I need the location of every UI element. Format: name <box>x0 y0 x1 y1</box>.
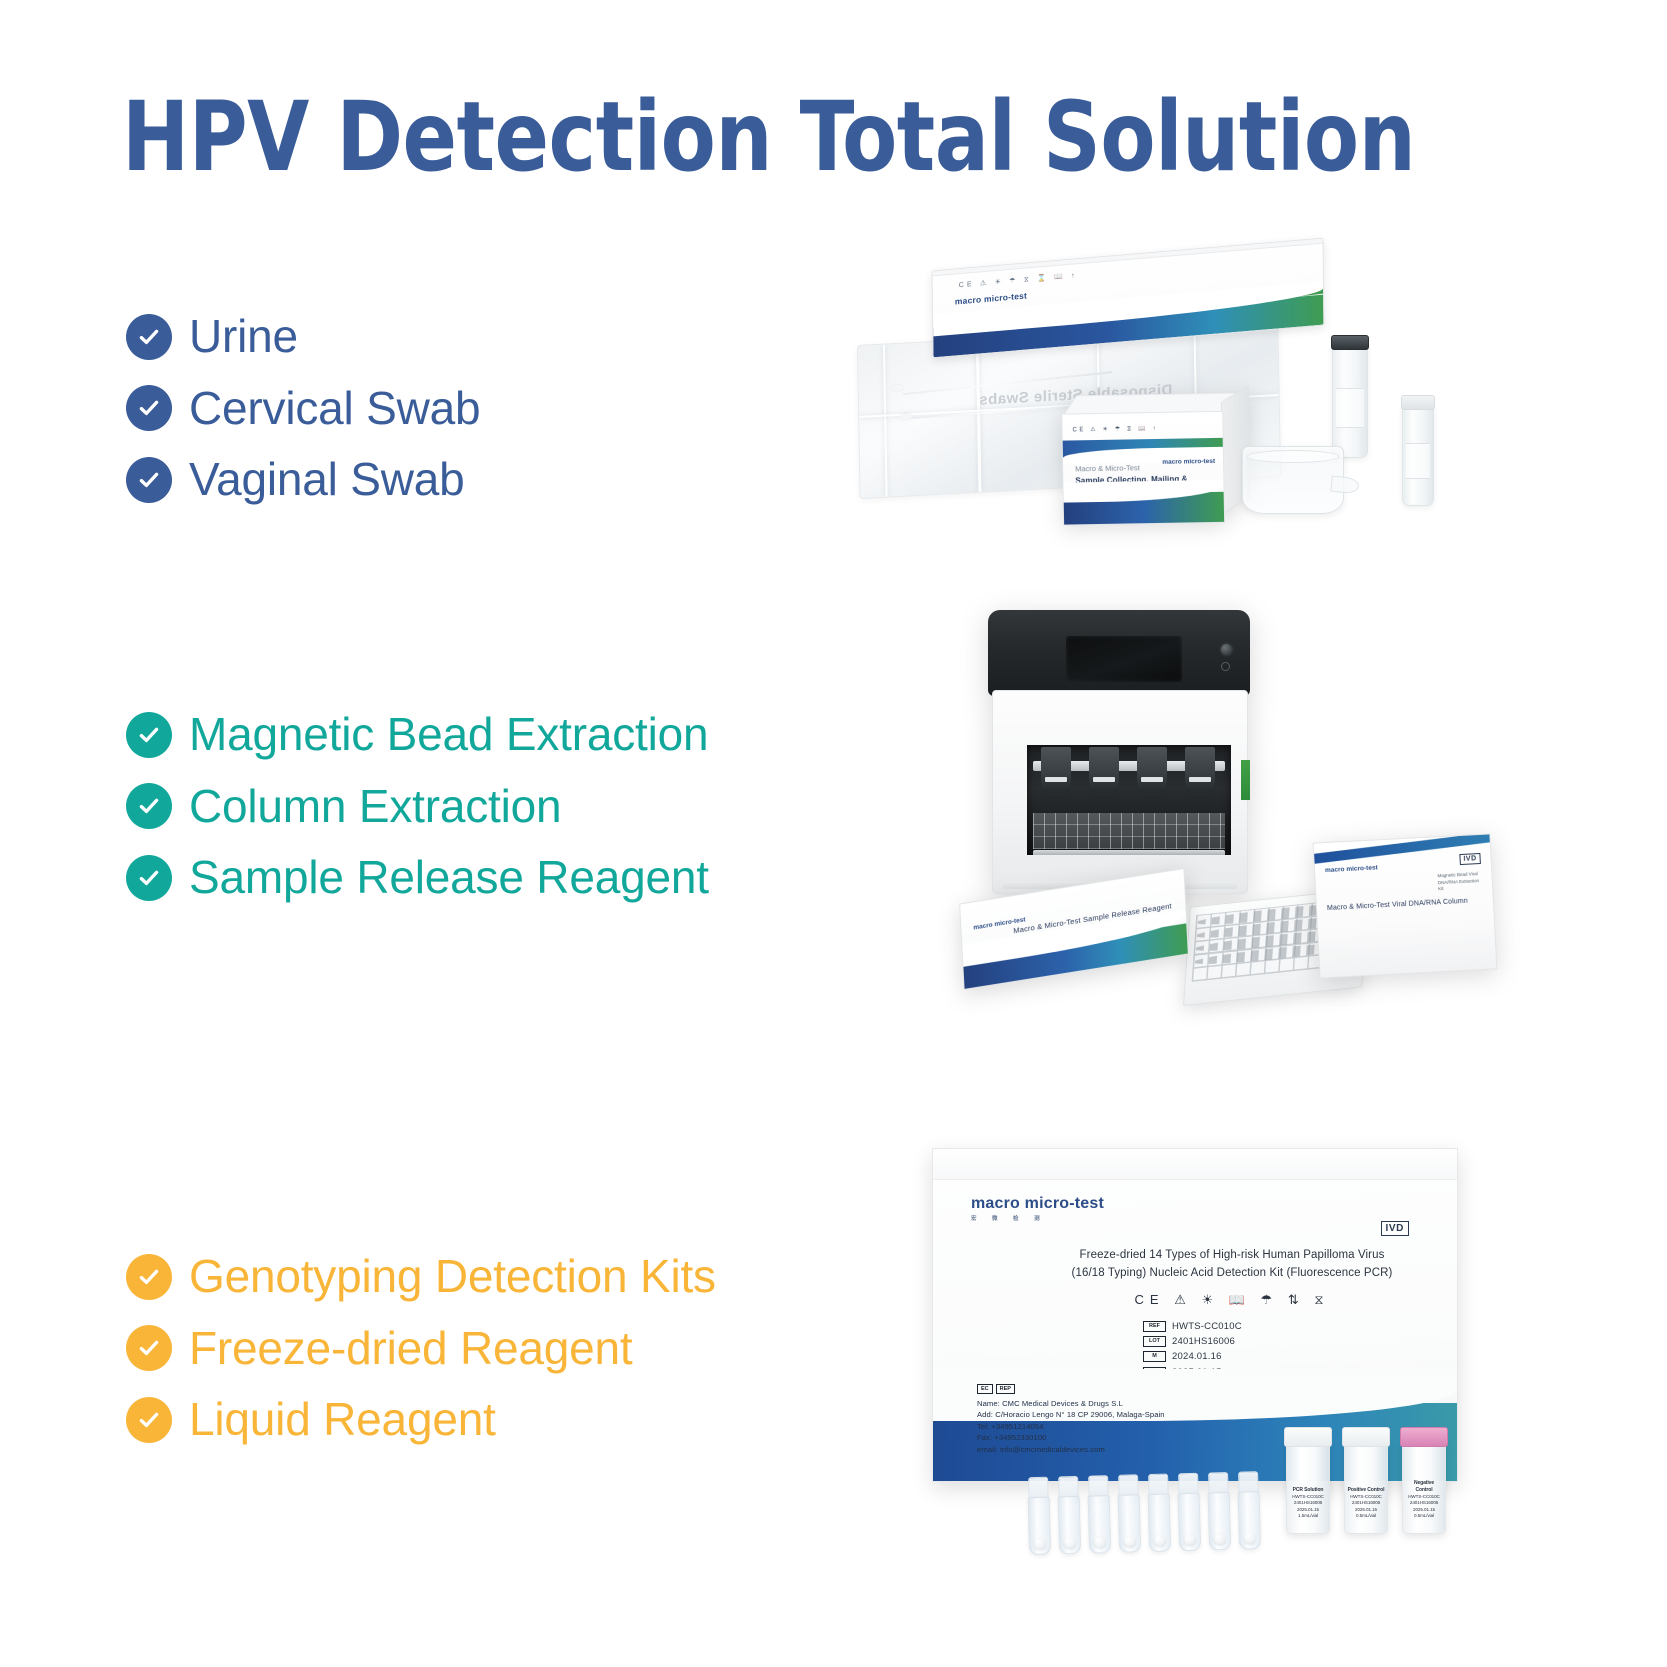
positive-control-vial: Positive Control HWTS-CC010C 2401HS16006… <box>1344 1440 1388 1534</box>
extraction-chamber <box>1027 745 1231 855</box>
feature-label: Freeze-dried Reagent <box>189 1320 632 1378</box>
code-row-manufacture-date: M2024.01.16 <box>1143 1349 1413 1364</box>
package-symbols: CE ⚠ ☀ 📖 ☂ ⇅ ⧖ <box>1051 1292 1413 1308</box>
vial-name: Positive Control <box>1347 1487 1385 1494</box>
ref-tag-icon: REF <box>1143 1321 1166 1332</box>
feature-label: Magnetic Bead Extraction <box>189 706 708 764</box>
feature-item-liquid-reagent: Liquid Reagent <box>126 1391 716 1449</box>
vial-details: HWTS-CC010C 2401HS16006 2025.01.15 0.5mL… <box>1408 1494 1440 1518</box>
feature-label: Column Extraction <box>189 778 561 836</box>
check-circle-icon <box>126 385 172 431</box>
ivd-badge: IVD <box>1459 853 1481 865</box>
vial-details: HWTS-CC010C 2401HS16006 2025.01.15 1.5mL… <box>1292 1494 1324 1518</box>
check-circle-icon <box>126 1325 172 1371</box>
cube-carton-box: CE ⚠ ☀ ☂ ⧖ 📖 ↑ macro micro-test Macro & … <box>1061 392 1249 523</box>
feature-label: Urine <box>189 308 298 366</box>
collection-tube <box>1332 344 1368 458</box>
transport-tube <box>1402 404 1434 506</box>
manufacturer-name: Name: CMC Medical Devices & Drugs S.L <box>977 1398 1165 1409</box>
check-circle-icon <box>126 783 172 829</box>
power-indicator-icon <box>1221 644 1232 655</box>
check-circle-icon <box>126 712 172 758</box>
pcr-solution-vial: PCR Solution HWTS-CC010C 2401HS16006 202… <box>1286 1440 1330 1534</box>
ec-tag-icon: EC <box>977 1384 993 1394</box>
brand-logo-subtext: 宏 微 检 测 <box>971 1214 1104 1222</box>
check-circle-icon <box>126 1254 172 1300</box>
code-row-lot: LOT2401HS16006 <box>1143 1334 1413 1349</box>
feature-group-detection-reagents: Genotyping Detection Kits Freeze-dried R… <box>126 1248 716 1449</box>
kit-name-line-2: (16/18 Typing) Nucleic Acid Detection Ki… <box>1072 1267 1393 1279</box>
manufacture-date-icon: M <box>1143 1351 1166 1362</box>
feature-item-vaginal-swab: Vaginal Swab <box>126 451 480 509</box>
package-symbols: CE ⚠ ☀ ☂ ⧖ ⌛ 📖 ↑ <box>959 271 1078 290</box>
feature-item-magnetic-bead-extraction: Magnetic Bead Extraction <box>126 706 709 764</box>
instrument-touchscreen <box>1066 636 1182 682</box>
feature-group-sample-types: Urine Cervical Swab Vaginal Swab <box>126 308 480 509</box>
manufacturer-email: email: info@cmcmedicaldevices.com <box>977 1444 1165 1455</box>
lot-value: 2401HS16006 <box>1172 1336 1235 1347</box>
check-circle-icon <box>126 314 172 360</box>
ref-value: HWTS-CC010C <box>1172 1321 1242 1332</box>
page-title: HPV Detection Total Solution <box>122 86 1415 190</box>
lot-tag-icon: LOT <box>1143 1336 1166 1347</box>
ec-rep-tags: ECREP <box>977 1382 1165 1394</box>
extraction-system-photo: macro micro-test Macro & Micro-Test Samp… <box>940 610 1500 1060</box>
manufacturer-block: ECREP Name: CMC Medical Devices & Drugs … <box>977 1382 1165 1455</box>
feature-item-column-extraction: Column Extraction <box>126 778 709 836</box>
kit-name-line-1: Freeze-dried 14 Types of High-risk Human… <box>1080 1249 1385 1261</box>
feature-label: Genotyping Detection Kits <box>189 1248 716 1306</box>
code-row-ref: REFHWTS-CC010C <box>1143 1319 1413 1334</box>
check-circle-icon <box>126 855 172 901</box>
check-circle-icon <box>126 1397 172 1443</box>
feature-label: Liquid Reagent <box>189 1391 496 1449</box>
vial-name: PCR Solution <box>1289 1487 1327 1494</box>
brand-logo: macro micro-test 宏 微 检 测 <box>971 1195 1104 1222</box>
manufacturer-tel: Tel: +34951214054 <box>977 1421 1165 1432</box>
sample-collecting-kit-photo: Disposable Sterile Swabs CE ⚠ ☀ ☂ ⧖ ⌛ 📖 … <box>840 248 1540 568</box>
feature-label: Sample Release Reagent <box>189 849 709 907</box>
check-circle-icon <box>126 457 172 503</box>
feature-label: Cervical Swab <box>189 380 480 438</box>
feature-item-freeze-dried-reagent: Freeze-dried Reagent <box>126 1320 716 1378</box>
feature-item-genotyping-detection-kits: Genotyping Detection Kits <box>126 1248 716 1306</box>
product-brand-line: Macro & Micro-Test <box>1075 463 1140 473</box>
negative-control-vial: Negative Control HWTS-CC010C 2401HS16006… <box>1402 1440 1446 1534</box>
feature-item-urine: Urine <box>126 308 480 366</box>
feature-item-cervical-swab: Cervical Swab <box>126 380 480 438</box>
feature-item-sample-release-reagent: Sample Release Reagent <box>126 849 709 907</box>
hpv-pcr-detection-kit-photo: macro micro-test 宏 微 检 测 IVD Freeze-drie… <box>920 1140 1540 1560</box>
kit-label: Freeze-dried 14 Types of High-risk Human… <box>1051 1247 1413 1380</box>
brand-logo: macro micro-test <box>955 290 1027 306</box>
feature-label: Vaginal Swab <box>189 451 465 509</box>
brand-logo: macro micro-test <box>1325 864 1378 874</box>
ivd-badge: IVD <box>1381 1221 1409 1236</box>
manufacturer-fax: Fax: +34952330100 <box>977 1432 1165 1443</box>
nucleic-acid-extractor <box>988 610 1250 892</box>
status-indicator-icon <box>1221 662 1230 671</box>
manufacture-date-value: 2024.01.16 <box>1172 1351 1222 1362</box>
vial-name: Negative Control <box>1405 1480 1443 1494</box>
specimen-cup <box>1242 446 1344 514</box>
rep-tag-icon: REP <box>996 1384 1015 1394</box>
manufacturer-address: Add: C/Horacio Lengo N° 18 CP 29006, Mal… <box>977 1409 1165 1420</box>
feature-group-extraction-methods: Magnetic Bead Extraction Column Extracti… <box>126 706 709 907</box>
brand-logo: macro micro-test <box>1162 458 1215 466</box>
vial-details: HWTS-CC010C 2401HS16006 2025.01.15 0.5mL… <box>1350 1494 1382 1518</box>
package-symbols: CE ⚠ ☀ ☂ ⧖ 📖 ↑ <box>1072 425 1158 434</box>
pcr-tube-strip <box>1027 1463 1277 1555</box>
viral-dna-rna-column-box: macro micro-test IVD Magnetic Bead Viral… <box>1313 833 1498 978</box>
brand-logo-text: macro micro-test <box>971 1195 1104 1212</box>
